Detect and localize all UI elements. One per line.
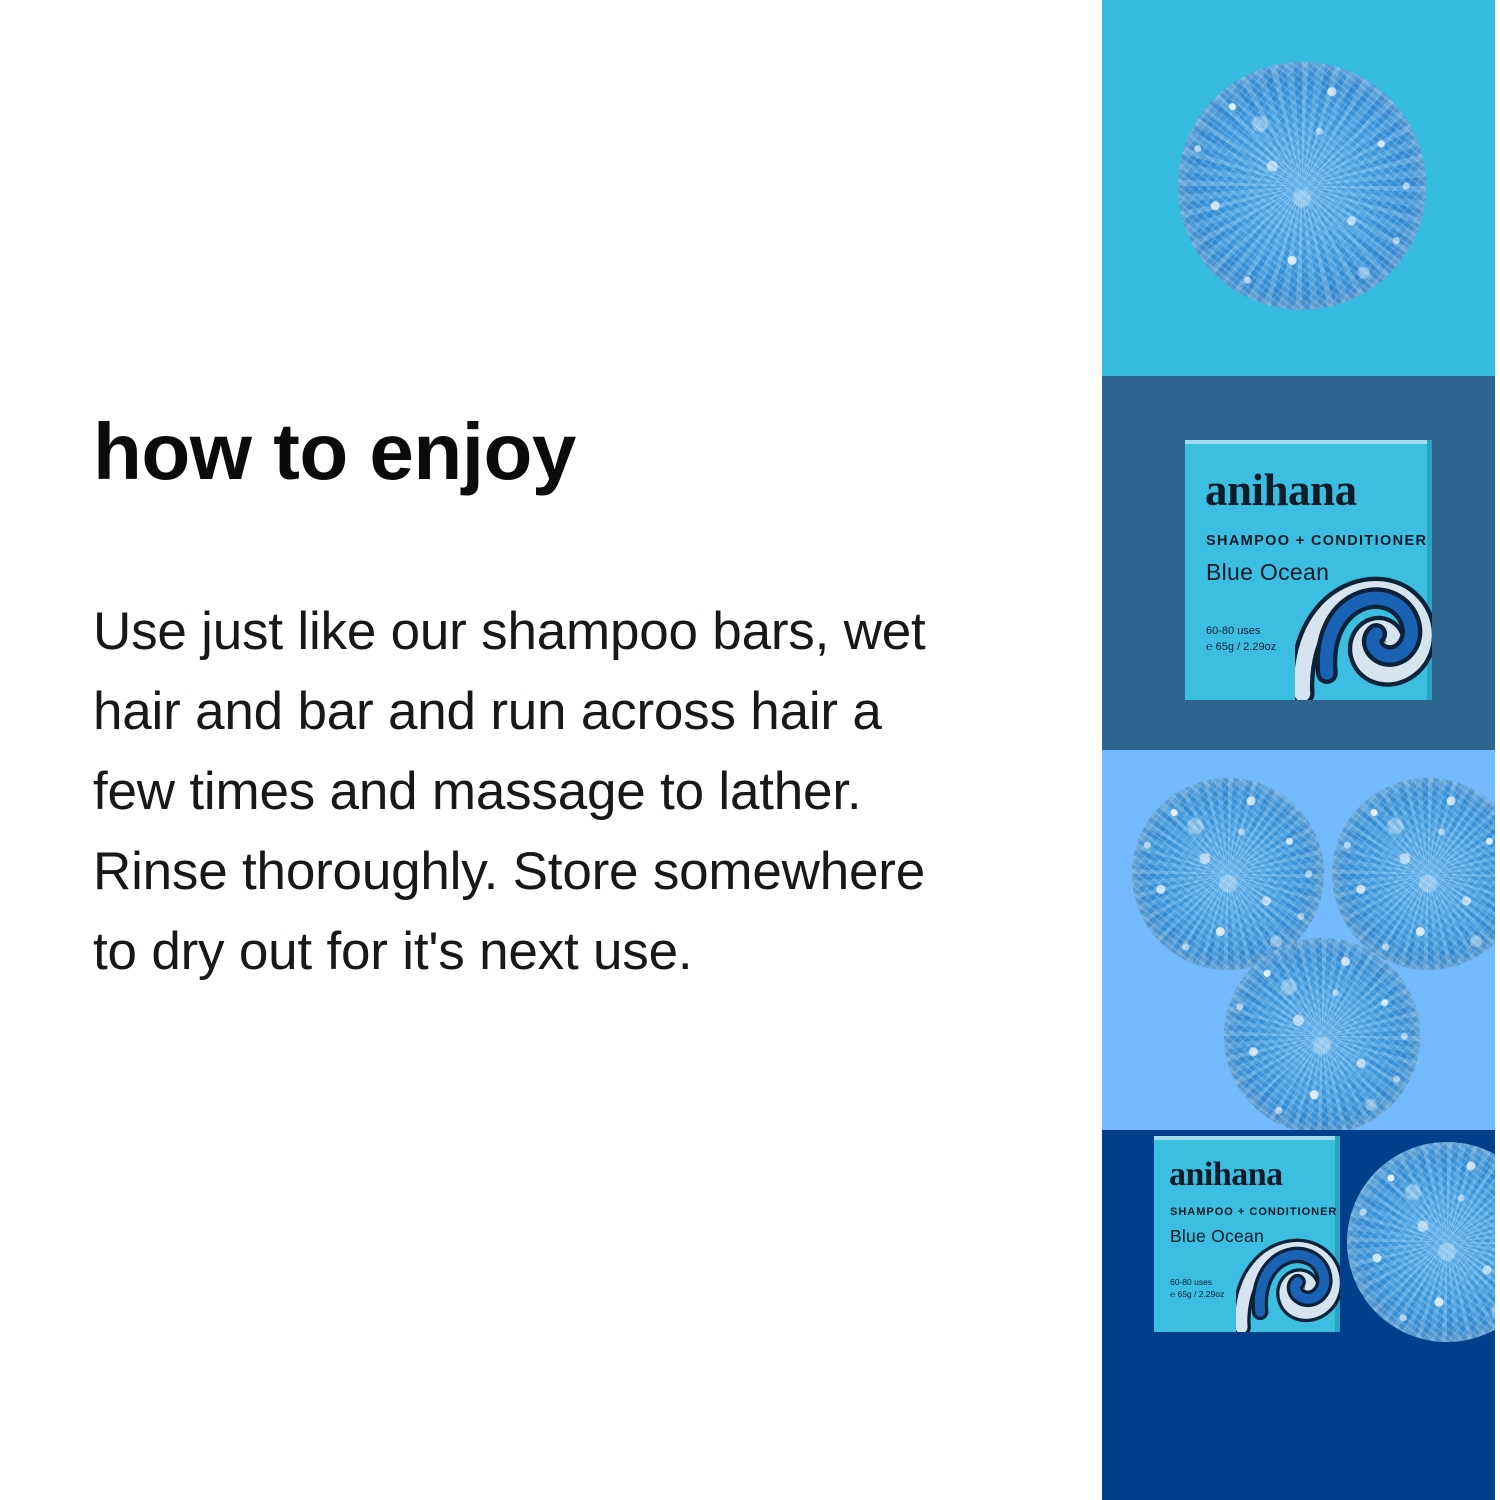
brand-name: anihana <box>1169 1158 1283 1192</box>
net-weight: ℮ 65g / 2.29oz <box>1206 641 1276 653</box>
instructions-paragraph: Use just like our shampoo bars, wet hair… <box>93 592 978 992</box>
panel-box-with-bar: anihana SHAMPOO + CONDITIONER BAR Blue O… <box>1102 1130 1495 1500</box>
product-box: anihana SHAMPOO + CONDITIONER BAR Blue O… <box>1185 440 1432 700</box>
shampoo-bar <box>1178 62 1426 310</box>
page-title: how to enjoy <box>93 412 576 492</box>
wave-icon <box>1236 1226 1340 1332</box>
box-fineprint: 60-80 uses ℮ 65g / 2.29oz <box>1206 624 1276 656</box>
product-infographic: how to enjoy Use just like our shampoo b… <box>0 0 1500 1500</box>
shampoo-bar <box>1332 778 1495 970</box>
shampoo-bar <box>1347 1142 1495 1342</box>
product-box: anihana SHAMPOO + CONDITIONER BAR Blue O… <box>1154 1136 1340 1332</box>
text-column: how to enjoy Use just like our shampoo b… <box>93 0 993 1500</box>
brand-name: anihana <box>1205 468 1357 513</box>
box-top-edge <box>1154 1136 1340 1140</box>
panel-three-bars <box>1102 750 1495 1130</box>
shampoo-bar <box>1224 938 1420 1130</box>
wave-icon <box>1295 560 1432 700</box>
product-type-label: SHAMPOO + CONDITIONER BAR <box>1206 533 1432 549</box>
product-type-label: SHAMPOO + CONDITIONER BAR <box>1170 1206 1340 1218</box>
box-fineprint: 60-80 uses ℮ 65g / 2.29oz <box>1170 1276 1224 1301</box>
panel-boxed-product: anihana SHAMPOO + CONDITIONER BAR Blue O… <box>1102 376 1495 750</box>
product-image-column: anihana SHAMPOO + CONDITIONER BAR Blue O… <box>1102 0 1495 1500</box>
box-top-edge <box>1185 440 1432 444</box>
net-weight: ℮ 65g / 2.29oz <box>1170 1289 1224 1299</box>
uses-count: 60-80 uses <box>1206 625 1260 637</box>
uses-count: 60-80 uses <box>1170 1277 1212 1287</box>
panel-single-bar <box>1102 0 1495 376</box>
